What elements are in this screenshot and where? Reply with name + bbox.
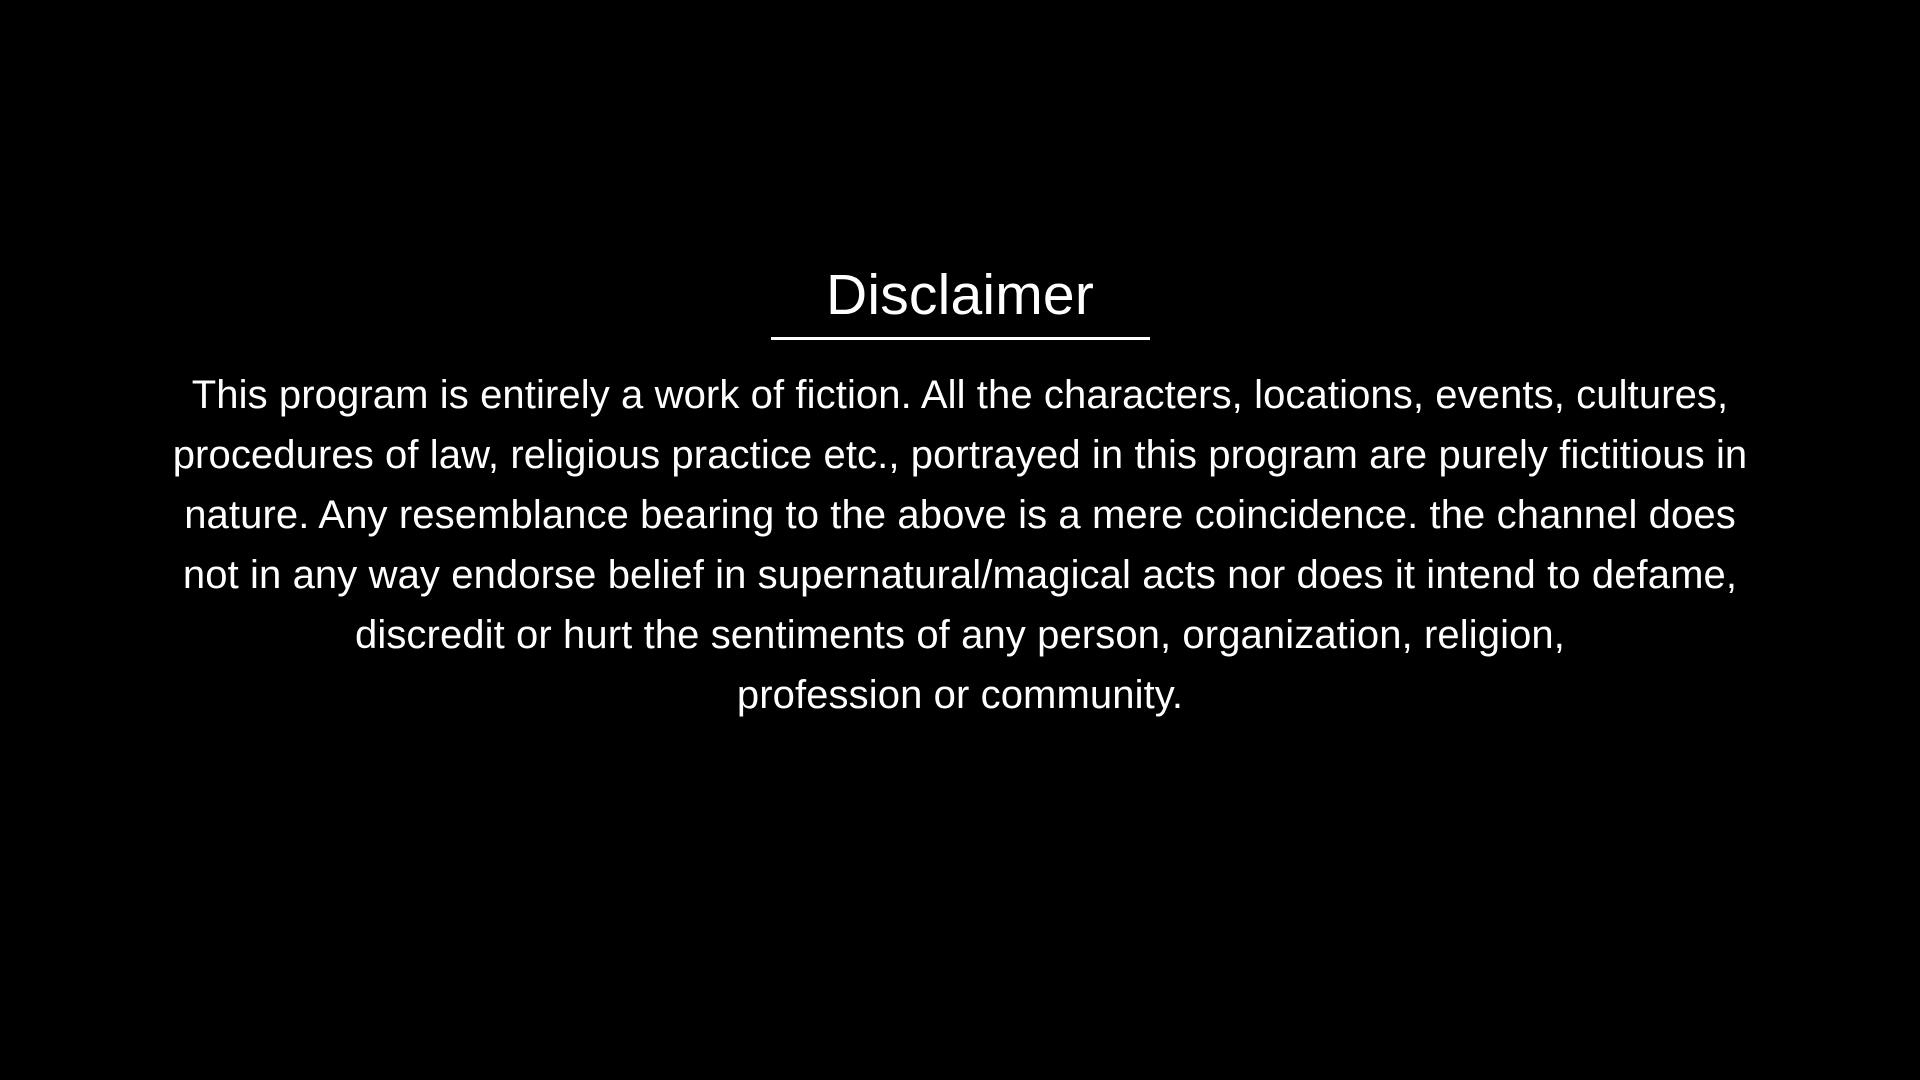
disclaimer-content: Disclaimer This program is entirely a wo…	[0, 262, 1920, 725]
body-line: discredit or hurt the sentiments of any …	[130, 605, 1790, 665]
page-title: Disclaimer	[826, 262, 1094, 328]
body-line: profession or community.	[130, 665, 1790, 725]
disclaimer-slide: Disclaimer This program is entirely a wo…	[0, 0, 1920, 1080]
body-line: nature. Any resemblance bearing to the a…	[130, 485, 1790, 545]
body-line: not in any way endorse belief in superna…	[130, 545, 1790, 605]
body-line: procedures of law, religious practice et…	[130, 425, 1790, 485]
disclaimer-body: This program is entirely a work of ficti…	[130, 365, 1790, 725]
body-line: This program is entirely a work of ficti…	[130, 365, 1790, 425]
title-group: Disclaimer	[0, 262, 1920, 340]
title-underline-rule	[771, 337, 1150, 340]
